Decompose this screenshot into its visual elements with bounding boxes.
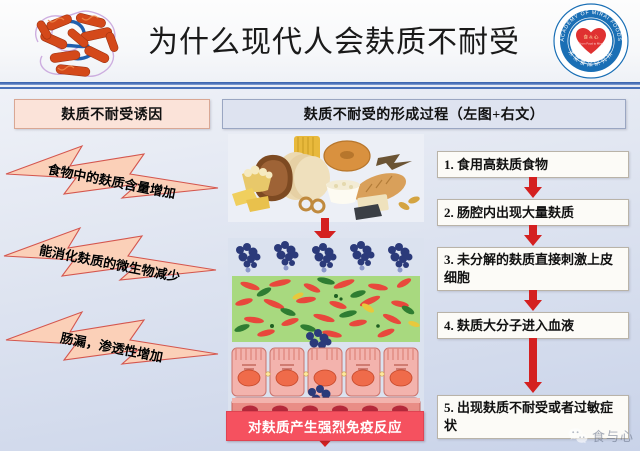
- epithelial-cells: [232, 348, 418, 396]
- academy-logo: ACADEMY OF MIRAI FOODS 未来食品研究所 食 & 心 Fro…: [552, 2, 630, 80]
- right-panel-header: 麸质不耐受的形成过程（左图+右文）: [222, 99, 626, 129]
- cause-banner-2: 能消化麸质的微生物减少: [2, 226, 218, 298]
- cause-banner-3: 肠漏，渗透性增加: [4, 310, 220, 382]
- process-step-2: 2. 肠腔内出现大量麸质: [437, 199, 629, 226]
- down-arrow-icon: [522, 225, 544, 247]
- header-divider-secondary: [0, 87, 640, 89]
- down-arrow-icon: [522, 338, 544, 394]
- slide-canvas: 为什么现代人会麸质不耐受 ACADEMY OF MIRAI FOODS 未来食品…: [0, 0, 640, 451]
- page-title: 为什么现代人会麸质不耐受: [148, 14, 508, 72]
- svg-text:食 & 心: 食 & 心: [583, 34, 598, 41]
- protein-ribbon-icon: [26, 2, 130, 84]
- cause-banner-1: 食物中的麸质含量增加: [4, 144, 220, 216]
- immune-response-box: 对麸质产生强烈免疫反应: [226, 411, 424, 441]
- left-panel-header: 麸质不耐受诱因: [14, 99, 210, 129]
- process-step-1: 1. 食用高麸质食物: [437, 151, 629, 178]
- process-diagram-column: [228, 134, 424, 444]
- process-step-4: 4. 麸质大分子进入血液: [437, 312, 629, 339]
- gluten-foods-photo: [228, 134, 424, 222]
- down-arrow-icon: [522, 290, 544, 312]
- slide-header: 为什么现代人会麸质不耐受 ACADEMY OF MIRAI FOODS 未来食品…: [0, 0, 640, 84]
- svg-text:From Food to Mind: From Food to Mind: [579, 42, 604, 46]
- process-step-3: 3. 未分解的麸质直接刺激上皮细胞: [437, 247, 629, 291]
- down-arrow-icon: [522, 177, 544, 199]
- process-step-5: 5. 出现麸质不耐受或者过敏症状: [437, 395, 629, 439]
- header-divider-primary: [0, 82, 640, 85]
- intestine-diagram: [228, 238, 424, 424]
